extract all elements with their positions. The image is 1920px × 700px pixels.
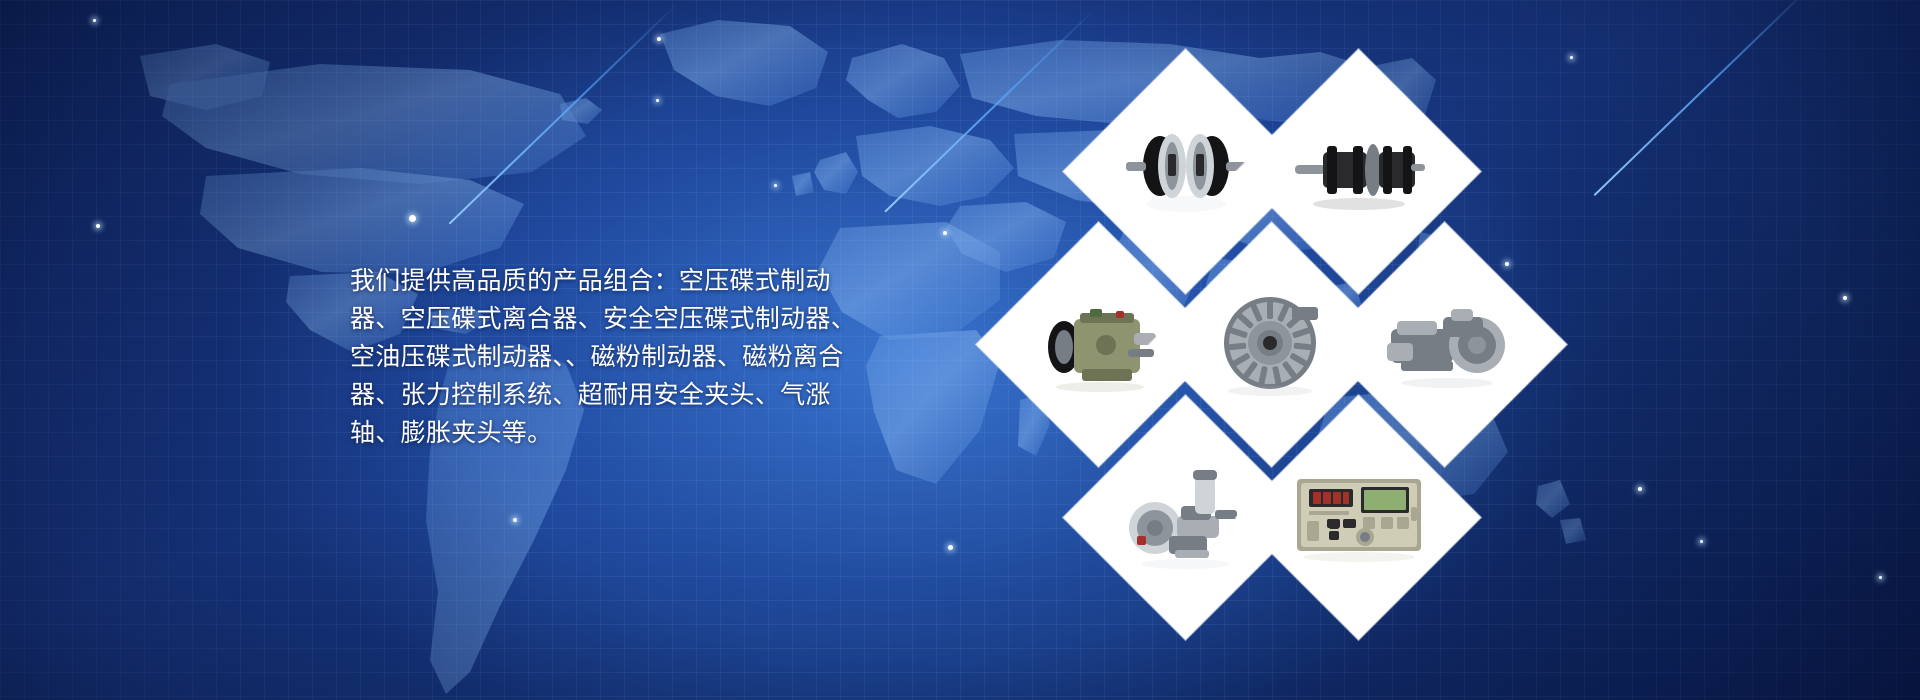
light-streak-3 xyxy=(1594,0,1811,196)
background-vignette xyxy=(0,0,1920,700)
world-map-silhouette xyxy=(0,0,1920,700)
star-dot-8 xyxy=(513,518,517,522)
headline-paragraph: 我们提供高品质的产品组合：空压碟式制动器、空压碟式离合器、安全空压碟式制动器、空… xyxy=(350,262,870,452)
star-dot-2 xyxy=(96,224,100,228)
hydraulic-caliper-icon xyxy=(1358,258,1531,431)
star-dot-12 xyxy=(1570,56,1573,59)
background-grid xyxy=(0,0,1920,700)
pneumatic-disc-clutch-icon xyxy=(1272,85,1445,258)
star-dot-13 xyxy=(1638,487,1642,491)
diamond-product-gallery xyxy=(1012,172,1532,532)
star-dot-1 xyxy=(93,19,96,22)
star-dot-15 xyxy=(1843,296,1847,300)
star-dot-16 xyxy=(1879,576,1882,579)
star-dot-14 xyxy=(1700,540,1703,543)
star-dot-9 xyxy=(948,545,953,550)
hero-banner: 我们提供高品质的产品组合：空压碟式制动器、空压碟式离合器、安全空压碟式制动器、空… xyxy=(0,0,1920,700)
star-dot-7 xyxy=(943,231,947,235)
tension-controller-icon xyxy=(1272,431,1445,604)
star-dot-4 xyxy=(657,37,661,41)
star-dot-6 xyxy=(774,184,777,187)
light-streak-1 xyxy=(449,2,679,224)
star-dot-5 xyxy=(656,99,659,102)
star-dot-3 xyxy=(409,215,416,222)
